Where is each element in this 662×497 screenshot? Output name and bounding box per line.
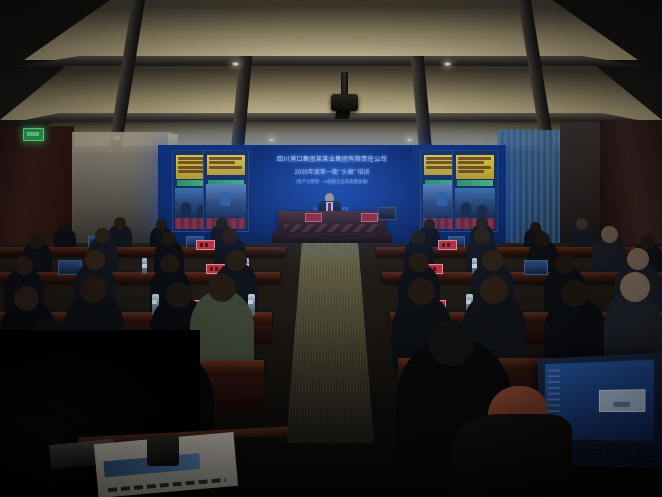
panel-banner: [456, 155, 494, 179]
name-placard: [196, 240, 215, 250]
ceiling-cove-middle: [0, 66, 662, 120]
screen-dialog-box[interactable]: [599, 389, 646, 412]
recessed-downlight: [232, 62, 239, 66]
ceiling-cove-outer: [24, 0, 638, 60]
recessed-downlight: [268, 138, 275, 142]
name-placard: [438, 240, 457, 250]
podium-laptop: [378, 207, 396, 220]
foreground-arm: [452, 414, 572, 497]
panel-photo: [455, 188, 495, 217]
panel-accent-bar: [457, 180, 493, 186]
foreground-dark-object: [147, 436, 179, 466]
panel-banner: [207, 155, 245, 175]
recessed-downlight: [444, 62, 451, 66]
presenter-tie: [328, 203, 331, 211]
attendee-laptop: [524, 260, 548, 275]
recessed-downlight: [406, 138, 413, 142]
led-subtitle-1: 2025年度第一期 "头雁" 培训: [258, 170, 406, 177]
led-subtitle-2: （生产力管理 · AI赋能企业高质量发展）: [258, 179, 406, 185]
ceiling-projector-icon: [341, 72, 348, 98]
water-bottle: [142, 258, 147, 274]
conference-room-photo: 四川港口集团某某业集团有限责任公司 2025年度第一期 "头雁" 培训 （生产力…: [0, 0, 662, 497]
panel-photo: [206, 184, 246, 217]
panel-right-outer: [452, 150, 498, 232]
stage-placard-left: [305, 213, 322, 222]
led-title: 四川港口集团某某业集团有限责任公司: [258, 156, 406, 164]
stage-placard-right: [361, 213, 378, 222]
exit-sign-icon: [23, 128, 44, 141]
